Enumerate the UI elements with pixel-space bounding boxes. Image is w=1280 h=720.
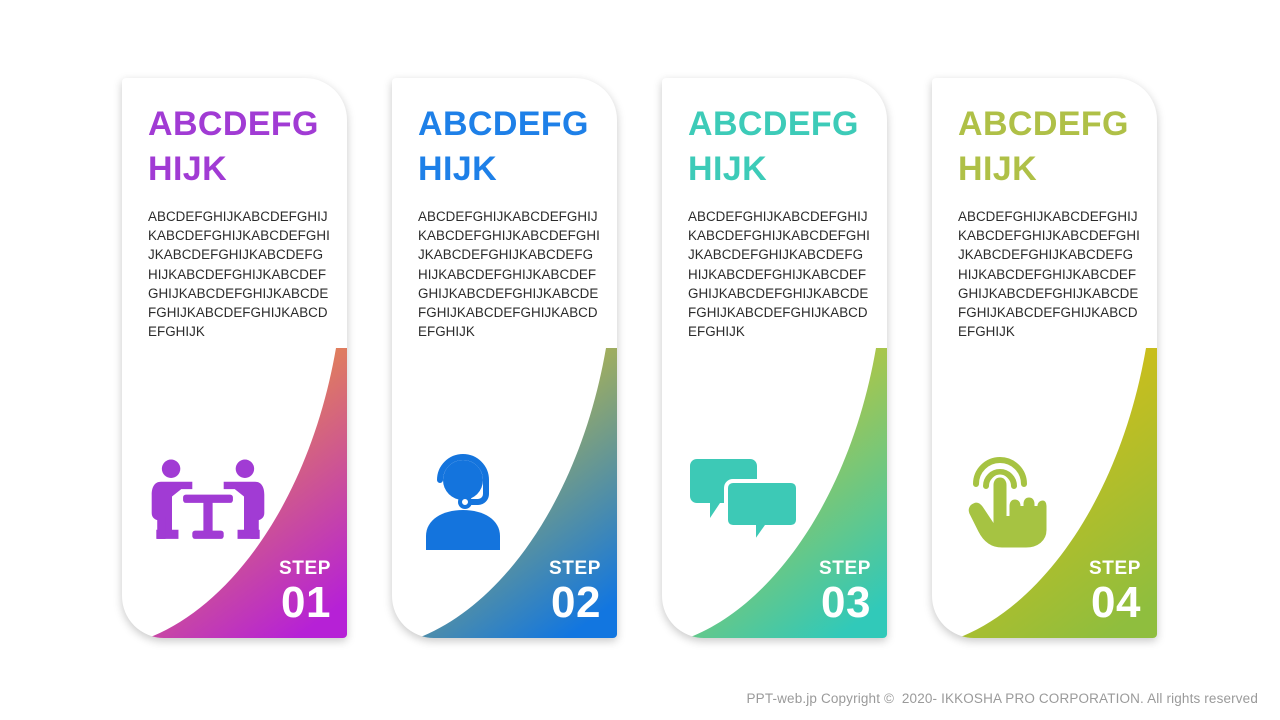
step-card-03-step-label: STEP 03	[819, 558, 871, 626]
step-card-01[interactable]: ABCDEFG HIJK ABCDEFGHIJKABCDEFGHIJKABCDE…	[122, 78, 347, 638]
step-word: STEP	[279, 558, 331, 580]
headset-support-agent-icon	[418, 456, 538, 550]
step-card-02-heading: ABCDEFG HIJK	[418, 102, 599, 192]
steps-card-group: ABCDEFG HIJK ABCDEFGHIJKABCDEFGHIJKABCDE…	[0, 0, 1280, 660]
step-card-01-body-text: ABCDEFGHIJKABCDEFGHIJKABCDEFGHIJKABCDEFG…	[148, 207, 330, 341]
meeting-table-icon	[148, 456, 268, 550]
step-card-02-step-label: STEP 02	[549, 558, 601, 626]
step-word: STEP	[1089, 558, 1141, 580]
step-number: 01	[279, 580, 331, 626]
step-card-03-body-text: ABCDEFGHIJKABCDEFGHIJKABCDEFGHIJKABCDEFG…	[688, 207, 870, 341]
step-word: STEP	[549, 558, 601, 580]
step-card-04[interactable]: ABCDEFG HIJK ABCDEFGHIJKABCDEFGHIJKABCDE…	[932, 78, 1157, 638]
step-card-02[interactable]: ABCDEFG HIJK ABCDEFGHIJKABCDEFGHIJKABCDE…	[392, 78, 617, 638]
step-number: 03	[819, 580, 871, 626]
step-card-01-step-label: STEP 01	[279, 558, 331, 626]
step-card-02-body-text: ABCDEFGHIJKABCDEFGHIJKABCDEFGHIJKABCDEFG…	[418, 207, 600, 341]
step-card-04-body-text: ABCDEFGHIJKABCDEFGHIJKABCDEFGHIJKABCDEFG…	[958, 207, 1140, 341]
tap-hand-icon	[958, 456, 1078, 550]
step-word: STEP	[819, 558, 871, 580]
step-card-04-step-label: STEP 04	[1089, 558, 1141, 626]
step-card-03-heading: ABCDEFG HIJK	[688, 102, 869, 192]
step-card-03[interactable]: ABCDEFG HIJK ABCDEFGHIJKABCDEFGHIJKABCDE…	[662, 78, 887, 638]
step-card-01-heading: ABCDEFG HIJK	[148, 102, 329, 192]
step-card-04-heading: ABCDEFG HIJK	[958, 102, 1139, 192]
chat-bubbles-icon	[688, 456, 808, 550]
step-number: 04	[1089, 580, 1141, 626]
step-number: 02	[549, 580, 601, 626]
copyright-footer: PPT-web.jp Copyright © 2020- IKKOSHA PRO…	[747, 691, 1258, 706]
